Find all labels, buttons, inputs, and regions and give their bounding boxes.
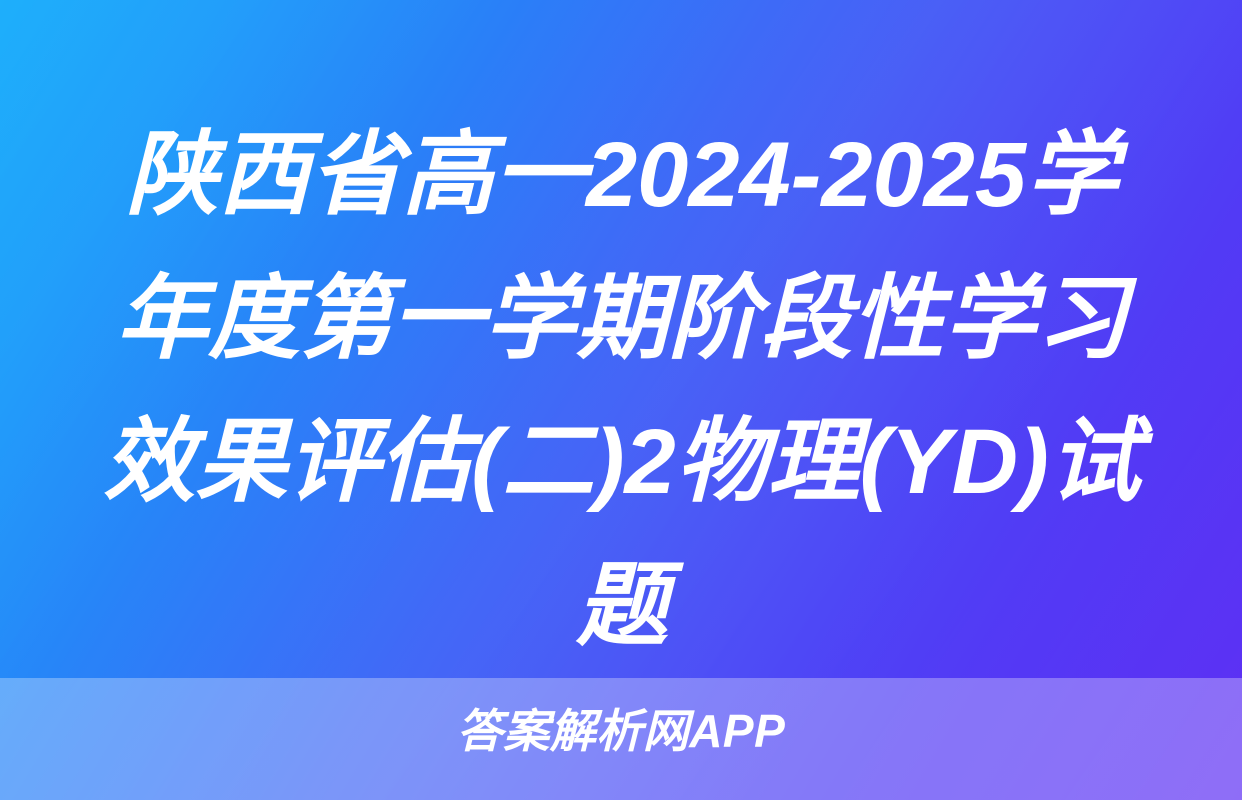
page-title: 陕西省高一2024-2025学年度第一学期阶段性学习效果评估(二)2物理(YD)… <box>84 104 1160 678</box>
watermark-brand-label: 答案解析网APP <box>0 706 1242 757</box>
exam-paper-cover-card: 陕西省高一2024-2025学年度第一学期阶段性学习效果评估(二)2物理(YD)… <box>0 0 1242 800</box>
